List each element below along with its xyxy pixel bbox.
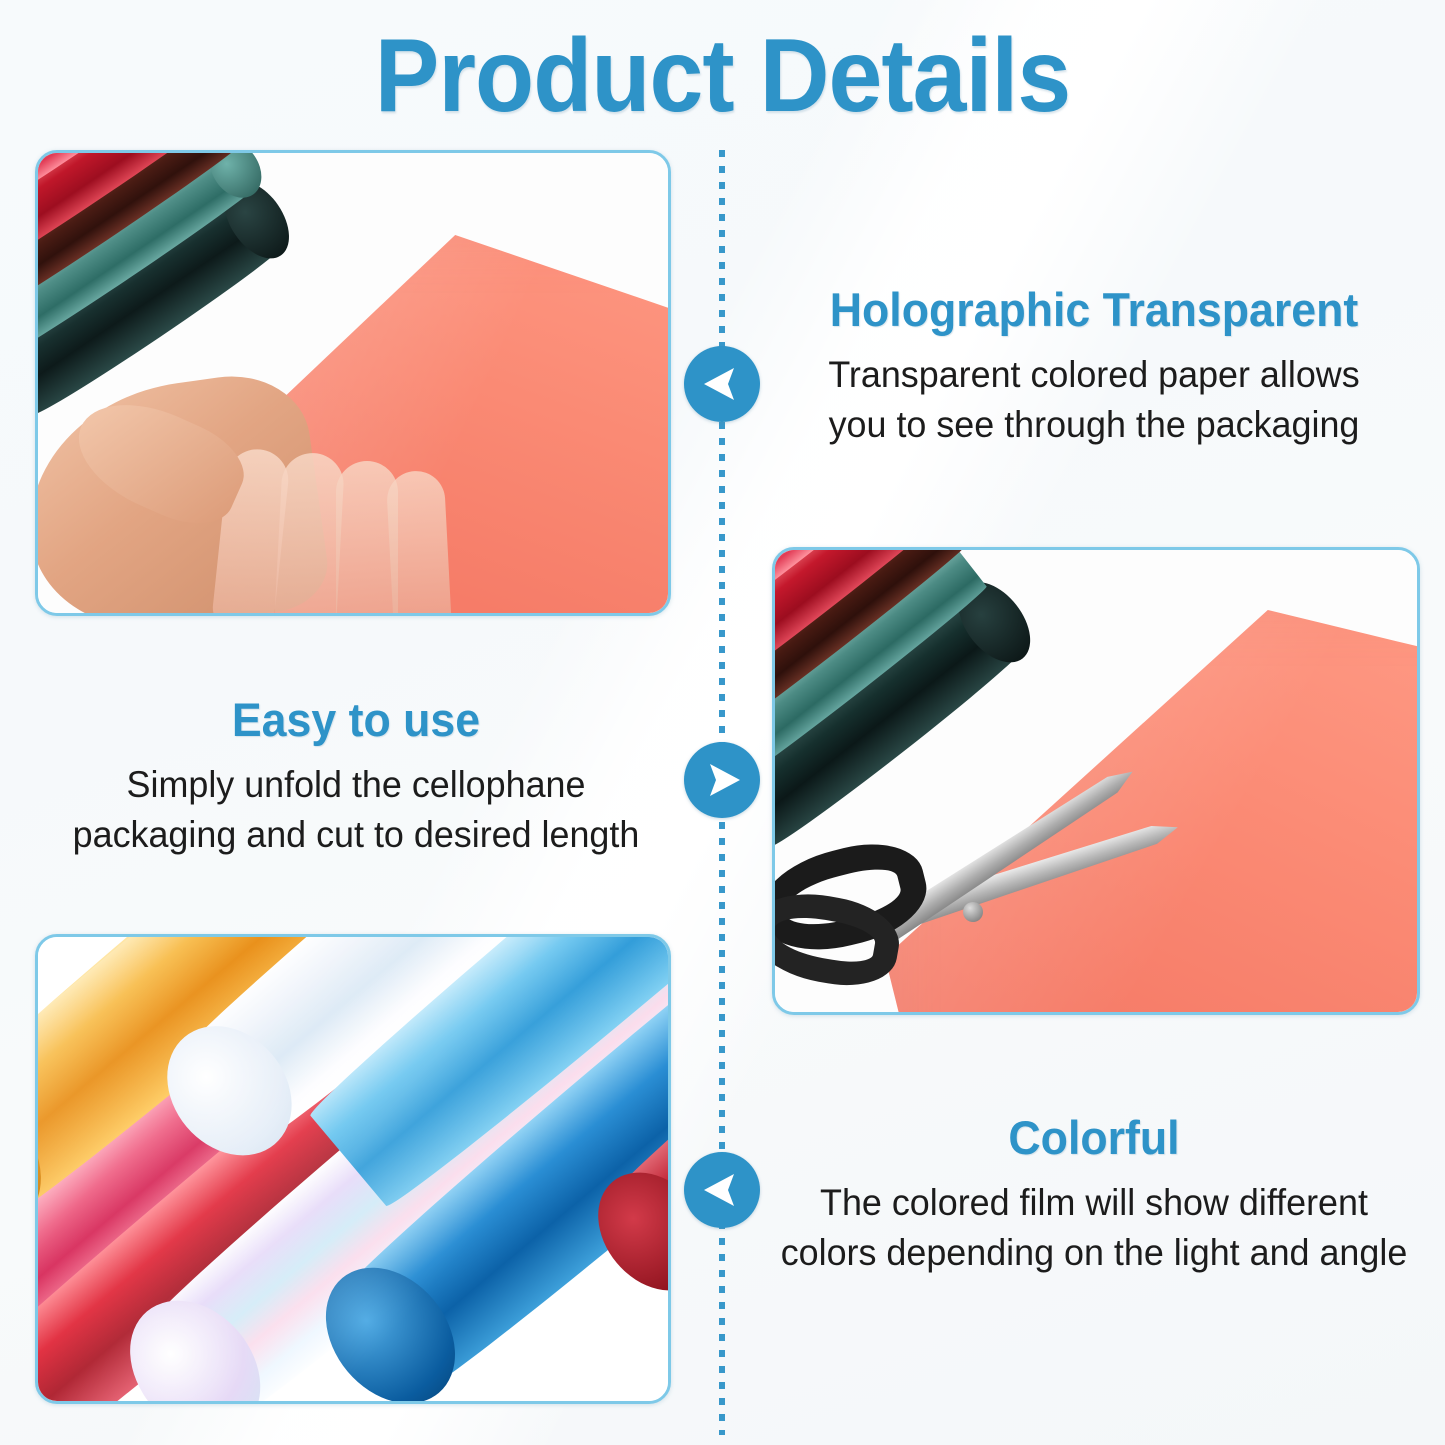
marker-colorful [684,1152,760,1228]
feature-body-line-1: Transparent colored paper allows [770,350,1418,400]
feature-heading: Easy to use [39,692,674,748]
feature-body-line-2: colors depending on the light and angle [762,1228,1425,1278]
photo-hand-sheet [35,150,671,616]
photo-rolls-closeup [35,934,671,1404]
feature-block-colorful: Colorful The colored film will show diff… [752,1110,1436,1278]
marker-easy-to-use [684,742,760,818]
page-title: Product Details [51,20,1395,132]
infographic-page: Product Details [0,0,1445,1445]
feature-body-line-1: The colored film will show different [762,1178,1425,1228]
arrow-left-icon [684,346,760,422]
photo-scissors-cut [772,547,1420,1015]
feature-block-holographic-transparent: Holographic Transparent Transparent colo… [760,282,1428,450]
feature-body-line-1: Simply unfold the cellophane [32,760,680,810]
feature-block-easy-to-use: Easy to use Simply unfold the cellophane… [22,692,690,860]
feature-body-line-2: you to see through the packaging [770,400,1418,450]
feature-heading: Colorful [769,1110,1419,1166]
arrow-right-icon [684,742,760,818]
arrow-left-icon [684,1152,760,1228]
feature-body-line-2: packaging and cut to desired length [32,810,680,860]
marker-holographic-transparent [684,346,760,422]
feature-heading: Holographic Transparent [777,282,1412,338]
